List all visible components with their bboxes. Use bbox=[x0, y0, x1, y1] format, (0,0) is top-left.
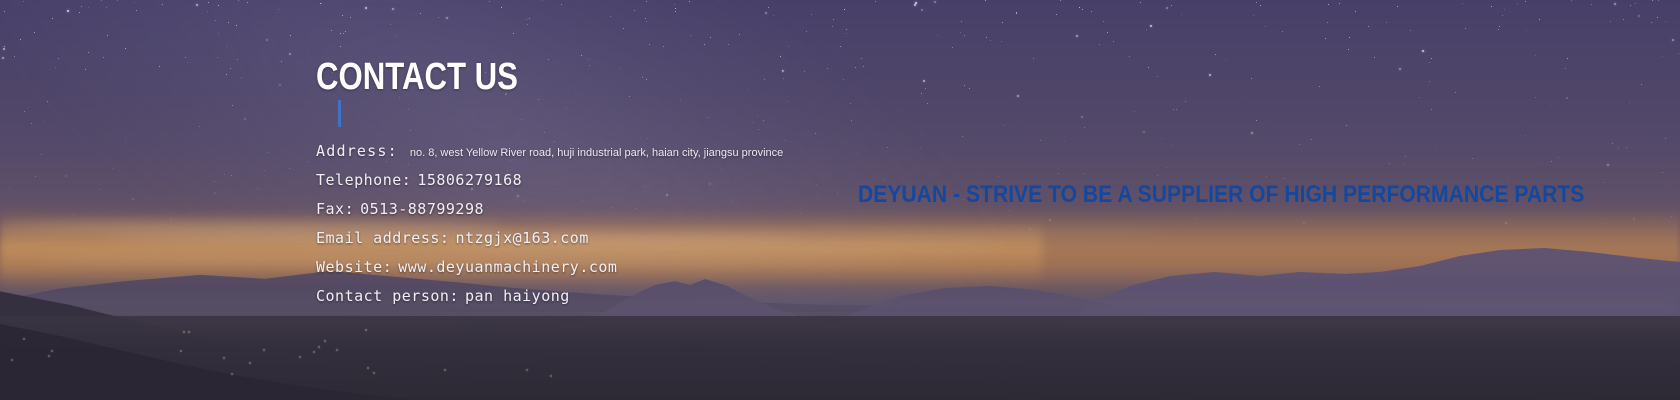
contact-value: pan haiyong bbox=[465, 287, 570, 305]
contact-banner: CONTACT US Address:no. 8, west Yellow Ri… bbox=[0, 0, 1680, 400]
banner-content: CONTACT US Address:no. 8, west Yellow Ri… bbox=[0, 0, 1680, 400]
title-divider bbox=[338, 100, 341, 127]
contact-line: Address:no. 8, west Yellow River road, h… bbox=[316, 142, 1076, 171]
contact-label: Contact person: bbox=[316, 287, 459, 305]
contact-label: Website: bbox=[316, 258, 392, 276]
company-tagline: DEYUAN - STRIVE TO BE A SUPPLIER OF HIGH… bbox=[858, 182, 1584, 208]
contact-line: Contact person:pan haiyong bbox=[316, 287, 1076, 316]
contact-value: no. 8, west Yellow River road, huji indu… bbox=[410, 147, 783, 159]
page-title: CONTACT US bbox=[316, 58, 518, 96]
contact-label: Fax: bbox=[316, 200, 354, 218]
contact-details-list: Address:no. 8, west Yellow River road, h… bbox=[316, 142, 1076, 316]
contact-value: ntzgjx@163.com bbox=[455, 229, 588, 247]
contact-value: 0513-88799298 bbox=[360, 200, 484, 218]
contact-label: Telephone: bbox=[316, 171, 411, 189]
contact-line: Email address:ntzgjx@163.com bbox=[316, 229, 1076, 258]
contact-label: Email address: bbox=[316, 229, 449, 247]
contact-line: Website:www.deyuanmachinery.com bbox=[316, 258, 1076, 287]
contact-label: Address: bbox=[316, 142, 398, 160]
contact-value: 15806279168 bbox=[417, 171, 522, 189]
contact-value: www.deyuanmachinery.com bbox=[398, 258, 617, 276]
